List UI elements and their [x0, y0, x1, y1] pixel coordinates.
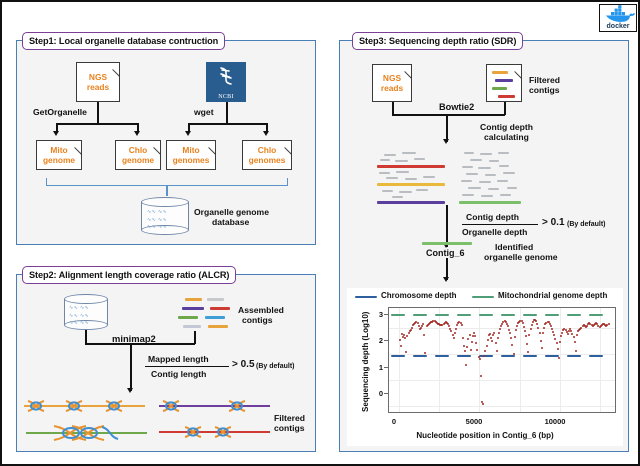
step3-sdr-stem	[446, 205, 448, 247]
mito-genomes-line1: Mito	[167, 145, 215, 155]
contig-bar	[498, 95, 515, 98]
data-point	[526, 343, 528, 345]
filtered-contigs-label-2: contigs	[274, 423, 305, 434]
data-point	[470, 349, 472, 351]
grid-line-v	[560, 308, 561, 412]
alcr-denominator: Contig length	[151, 369, 206, 380]
data-point	[456, 324, 458, 326]
data-point	[574, 341, 576, 343]
identified-label-1: Identified	[495, 242, 533, 253]
contig-red	[377, 165, 445, 168]
reference-line-segment	[435, 314, 449, 316]
step1-arrow-4	[263, 131, 269, 136]
grid-line-h	[389, 406, 615, 407]
data-point	[403, 334, 405, 336]
step1-arrow-1	[53, 131, 59, 136]
data-point	[462, 337, 464, 339]
alcr-numerator: Mapped length	[148, 354, 209, 365]
data-point	[532, 321, 534, 323]
data-point	[499, 328, 501, 330]
data-point	[561, 332, 563, 334]
reference-line-segment	[457, 355, 471, 357]
contig-yellow	[377, 183, 445, 186]
data-point	[554, 338, 556, 340]
data-point	[542, 332, 544, 334]
data-point	[474, 335, 476, 337]
ncbi-label: NCBI	[206, 94, 246, 100]
data-point	[516, 325, 518, 327]
chart-plot-area	[388, 307, 616, 413]
reference-line-segment	[413, 314, 427, 316]
step3-filtered-contigs-file	[486, 64, 522, 102]
contig-green	[459, 201, 521, 204]
reference-line-segment	[567, 355, 581, 357]
x-tick-0: 0	[384, 417, 404, 426]
step3-join	[392, 114, 505, 116]
data-point	[553, 334, 555, 336]
data-point	[465, 364, 467, 366]
y-tickmark	[384, 314, 388, 315]
data-point	[486, 345, 488, 347]
step3-chart-arrow	[443, 277, 449, 282]
data-point	[476, 349, 478, 351]
ngs-reads-file: NGS reads	[76, 62, 120, 102]
data-point	[508, 329, 510, 331]
mito-genome-line2: genome	[37, 155, 81, 165]
contig-bar	[492, 71, 508, 74]
identified-label-2: organelle genome	[484, 252, 558, 263]
mito-genomes-line2: genomes	[167, 155, 215, 165]
data-point	[586, 325, 588, 327]
data-point	[454, 332, 456, 334]
data-point	[423, 334, 425, 336]
sdr-threshold: > 0.1	[542, 218, 565, 229]
chlo-genomes-file: Chlo genomes	[242, 140, 292, 170]
data-point	[487, 339, 489, 341]
data-point	[461, 324, 463, 326]
chlo-genomes-line1: Chlo	[243, 145, 291, 155]
legend-line-mito	[472, 296, 494, 298]
data-point	[490, 337, 492, 339]
chart-xlabel: Nucleotide position in Contig_6 (bp)	[347, 431, 623, 440]
data-point	[450, 330, 452, 332]
assembled-bar	[183, 325, 201, 328]
assembled-contigs-label-2: contigs	[242, 315, 273, 326]
data-point	[493, 332, 495, 334]
chlo-genome-file: Chlo genome	[115, 140, 161, 170]
data-point	[535, 320, 537, 322]
data-point	[408, 332, 410, 334]
mito-genome-file: Mito genome	[36, 140, 82, 170]
data-point	[536, 323, 538, 325]
data-point	[471, 341, 473, 343]
data-point	[556, 342, 558, 344]
assembled-bar	[182, 307, 204, 310]
assembled-bar	[207, 298, 224, 301]
step2-database-icon: ∿∿ ∿∿ ∿∿ ∿∿ ∿∿ ∿∿	[64, 294, 108, 330]
data-point	[552, 331, 554, 333]
data-point	[539, 332, 541, 334]
reference-line-segment	[435, 355, 449, 357]
data-point	[496, 350, 498, 352]
data-point	[608, 323, 610, 325]
reference-line-segment	[479, 314, 493, 316]
data-point	[420, 327, 422, 329]
assembled-bar	[208, 325, 228, 328]
alcr-threshold-note: (By default)	[256, 362, 295, 373]
data-point	[483, 355, 485, 357]
data-point	[400, 345, 402, 347]
step1-left-stem	[97, 102, 99, 124]
wget-label: wget	[194, 107, 214, 118]
contig-purple	[377, 201, 445, 204]
x-tick-5000: 5000	[459, 417, 489, 426]
step2-arrow-stem	[130, 343, 132, 391]
data-point	[525, 335, 527, 337]
data-point	[528, 334, 530, 336]
reference-line-segment	[545, 355, 559, 357]
sdr-numerator: Contig depth	[466, 212, 519, 223]
assembled-bar	[185, 298, 202, 301]
reference-line-segment	[501, 355, 515, 357]
data-point	[514, 336, 516, 338]
filtered-contigs-label-1: Filtered	[274, 413, 305, 424]
data-point	[453, 337, 455, 339]
mito-genome-line1: Mito	[37, 145, 81, 155]
filtered-contig-3	[24, 424, 149, 442]
legend-line-chromosome	[355, 296, 377, 298]
chlo-genome-line2: genome	[116, 155, 160, 165]
step3-ngs-line1: NGS	[373, 73, 411, 83]
step3-ngs-line2: reads	[373, 83, 411, 93]
step2-arrow	[127, 388, 133, 393]
step1-bracket-stem	[166, 186, 168, 196]
grid-line-h	[389, 380, 615, 381]
y-tickmark	[384, 367, 388, 368]
assembled-bar	[178, 316, 198, 319]
data-point	[515, 329, 517, 331]
data-point	[484, 350, 486, 352]
ngs-reads-line1: NGS	[77, 72, 119, 82]
step1-arrow-3	[185, 131, 191, 136]
step3-title: Step3: Sequencing depth ratio (SDR)	[352, 32, 523, 50]
grid-line-v	[520, 308, 521, 412]
reference-line-segment	[413, 355, 427, 357]
docker-label: docker	[600, 23, 636, 30]
assembled-contigs-label-1: Assembled	[238, 305, 284, 316]
data-point	[570, 330, 572, 332]
step1-left-branch	[56, 123, 138, 125]
step3-arrow	[443, 139, 449, 144]
step1-right-branch	[188, 123, 267, 125]
data-point	[510, 337, 512, 339]
assembled-bar	[205, 316, 225, 319]
step3-filtered-label-2: contigs	[529, 85, 560, 96]
reference-line-segment	[589, 314, 603, 316]
sdr-denominator: Organelle depth	[462, 227, 527, 238]
data-point	[531, 324, 533, 326]
data-point	[497, 337, 499, 339]
reference-line-segment	[391, 355, 405, 357]
docker-badge: docker	[599, 4, 637, 32]
filtered-contig-2	[157, 398, 272, 414]
step1-right-stem	[226, 102, 228, 124]
data-point	[406, 335, 408, 337]
data-point	[466, 346, 468, 348]
reference-line-segment	[589, 355, 603, 357]
organelle-database-label-2: database	[212, 217, 249, 228]
legend-label-chromosome: Chromosome depth	[381, 291, 457, 300]
ncbi-helix-icon	[206, 63, 246, 91]
data-point	[551, 328, 553, 330]
identified-contig-name: Contig_6	[426, 248, 465, 259]
figure-root: docker Step1: Local organelle database c…	[0, 0, 640, 466]
data-point	[541, 347, 543, 349]
data-point	[511, 344, 513, 346]
filtered-contig-4	[157, 424, 272, 440]
data-point	[571, 333, 573, 335]
minimap2-label: minimap2	[112, 334, 156, 345]
step2-title: Step2: Alignment length coverage ratio (…	[22, 266, 236, 284]
data-point	[469, 334, 471, 336]
grid-line-v	[479, 308, 480, 412]
data-point	[524, 330, 526, 332]
getorganelle-label: GetOrganelle	[33, 107, 87, 118]
data-point	[491, 340, 493, 342]
data-point	[498, 332, 500, 334]
docker-whale-icon	[600, 4, 636, 23]
legend-label-mito: Mitochondrial genome depth	[498, 291, 607, 300]
mito-genomes-file: Mito genomes	[166, 140, 216, 170]
chart-ylabel: Sequencing depth (Log10)	[361, 312, 370, 412]
ngs-reads-line2: reads	[77, 82, 119, 92]
data-point	[417, 322, 419, 324]
sdr-fraction-bar	[462, 224, 538, 225]
step1-title: Step1: Local organelle database contruct…	[22, 32, 225, 50]
step3-filtered-label-1: Filtered	[529, 75, 560, 86]
assembled-bar	[210, 307, 230, 310]
y-tickmark	[384, 340, 388, 341]
data-point	[559, 341, 561, 343]
data-point	[411, 327, 413, 329]
data-point	[464, 350, 466, 352]
organelle-database-icon: ∿∿ ∿∿ ∿∿ ∿∿ ∿∿ ∿∿	[141, 197, 189, 235]
grid-line-v	[399, 308, 400, 412]
data-point	[475, 342, 477, 344]
data-point	[540, 340, 542, 342]
data-point	[489, 333, 491, 335]
reference-line-segment	[545, 314, 559, 316]
reference-line-segment	[523, 314, 537, 316]
contig-bar	[492, 87, 507, 90]
data-point	[492, 334, 494, 336]
data-point	[463, 345, 465, 347]
data-point	[550, 325, 552, 327]
step3-ngs-reads-file: NGS reads	[372, 64, 412, 102]
filtered-contig-1	[22, 398, 147, 414]
reference-line-segment	[457, 314, 471, 316]
data-point	[501, 323, 503, 325]
data-point	[421, 325, 423, 327]
contig-depth-calc-label-2: calculating	[484, 132, 529, 143]
data-point	[399, 339, 401, 341]
data-point	[467, 338, 469, 340]
identified-contig-bar	[422, 242, 472, 245]
x-tick-10000: 10000	[538, 417, 572, 426]
data-point	[522, 322, 524, 324]
alcr-threshold: > 0.5	[232, 360, 255, 371]
data-point	[575, 350, 577, 352]
sequencing-depth-chart: Chromosome depth Mitochondrial genome de…	[347, 288, 623, 446]
step1-arrow-2	[134, 131, 140, 136]
data-point	[452, 334, 454, 336]
data-point	[495, 342, 497, 344]
data-point	[557, 348, 559, 350]
chlo-genome-line1: Chlo	[116, 145, 160, 155]
data-point	[573, 336, 575, 338]
chlo-genomes-line2: genomes	[243, 155, 291, 165]
contig-bar	[495, 79, 513, 82]
data-point	[509, 332, 511, 334]
data-point	[404, 337, 406, 339]
alcr-fraction-bar	[145, 366, 229, 367]
reference-line-segment	[479, 355, 493, 357]
sdr-threshold-note: (By default)	[567, 220, 606, 231]
reference-line-segment	[501, 314, 515, 316]
data-point	[576, 334, 578, 336]
ncbi-logo: NCBI	[206, 62, 246, 102]
contig-depth-calc-label-1: Contig depth	[480, 122, 533, 133]
data-point	[530, 328, 532, 330]
reference-line-segment	[391, 314, 405, 316]
data-point	[513, 353, 515, 355]
data-point	[567, 333, 569, 335]
y-tickmark	[384, 393, 388, 394]
data-point	[410, 329, 412, 331]
data-point	[558, 357, 560, 359]
bowtie2-label: Bowtie2	[439, 102, 474, 113]
step3-arrow-stem	[446, 114, 448, 142]
reference-line-segment	[567, 314, 581, 316]
organelle-database-label-1: Organelle genome	[194, 207, 269, 218]
data-point	[523, 326, 525, 328]
data-point	[479, 358, 481, 360]
reference-line-segment	[523, 355, 537, 357]
step1-bracket	[46, 178, 288, 186]
data-point	[543, 327, 545, 329]
data-point	[455, 328, 457, 330]
data-point	[473, 332, 475, 334]
step2-db-stem	[85, 330, 87, 344]
